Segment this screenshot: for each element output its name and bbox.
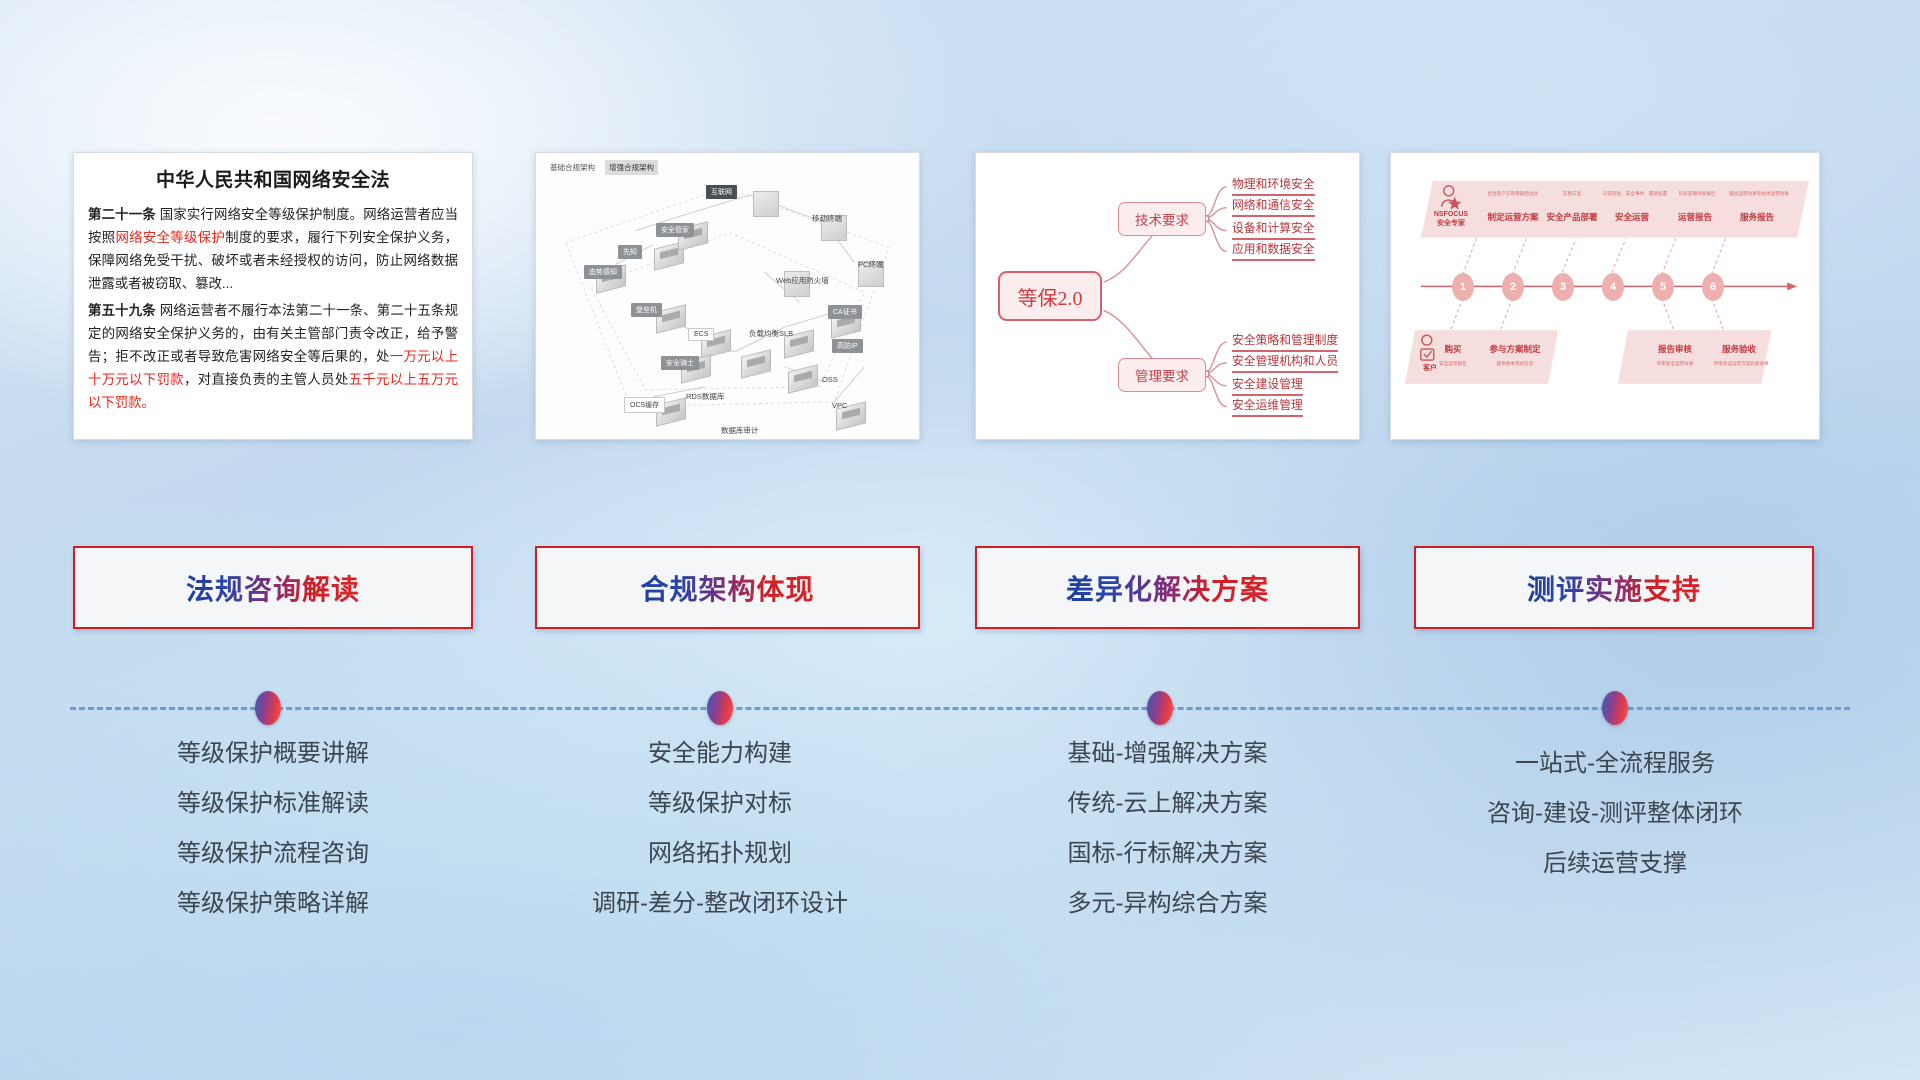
header-label-legal-consulting: 法规咨询解读	[186, 568, 360, 608]
arch-label-xianzhi: 先知	[618, 245, 642, 259]
list-item: 国标-行标解决方案	[960, 842, 1375, 866]
arch-label-situational: 态势感知	[584, 265, 622, 279]
timeline-marker-1[interactable]	[255, 691, 281, 725]
timeline-bottom-sub-4: 评审验证运营方案验收效果	[1701, 361, 1781, 367]
timeline-bottom-head-4: 服务验收	[1709, 343, 1769, 355]
list-item: 传统-云上解决方案	[960, 792, 1375, 816]
mindmap-leaf-policy: 安全策略和管理制度	[1232, 331, 1338, 352]
list-item: 等级保护标准解读	[73, 792, 473, 816]
law-document: 中华人民共和国网络安全法 第二十一条 国家实行网络安全等级保护制度。网络运营者应…	[74, 153, 472, 428]
arch-label-pc: PC终端	[858, 259, 883, 270]
timeline-bottom-head-2: 参与方案制定	[1479, 343, 1551, 355]
card-cybersecurity-law: 中华人民共和国网络安全法 第二十一条 国家实行网络安全等级保护制度。网络运营者应…	[73, 152, 473, 440]
list-item: 等级保护对标	[520, 792, 920, 816]
arch-label-db-audit: 数据库审计	[721, 425, 759, 436]
header-box-differentiated-solution[interactable]: 差异化解决方案	[975, 546, 1360, 629]
list-item: 后续运营支撑	[1400, 852, 1830, 876]
list-item: 等级保护概要讲解	[73, 742, 473, 766]
image-card-row: 中华人民共和国网络安全法 第二十一条 国家实行网络安全等级保护制度。网络运营者应…	[0, 152, 1920, 442]
card-service-timeline: NSFOCUS 安全专家 客户 结合客户实际需期后出具 制定运营方案 实施方案 …	[1390, 152, 1820, 440]
arch-label-rds: RDS数据库	[686, 391, 724, 402]
mindmap-leaf-operation: 安全运维管理	[1232, 396, 1303, 417]
arch-label-bastion: 堡垒机	[631, 303, 662, 317]
arch-label-ca-cert: CA证书	[828, 305, 862, 319]
timeline-node-6: 6	[1702, 273, 1724, 301]
vendor-role: 安全专家	[1437, 220, 1465, 227]
list-item: 基础-增强解决方案	[960, 742, 1375, 766]
timeline-marker-3[interactable]	[1147, 691, 1173, 725]
timeline-node-3: 3	[1552, 273, 1574, 301]
timeline-bottom-head-1: 购买	[1433, 343, 1473, 355]
list-item: 等级保护流程咨询	[73, 842, 473, 866]
timeline-top-head-5: 服务报告	[1719, 211, 1795, 223]
detail-list-differentiated-solution: 基础-增强解决方案 传统-云上解决方案 国标-行标解决方案 多元-异构综合方案	[960, 742, 1375, 942]
arch-label-waf: Web应用防火墙	[776, 275, 829, 286]
timeline-node-1: 1	[1452, 273, 1474, 301]
timeline-node-4: 4	[1602, 273, 1624, 301]
timeline-bottom-sub-1: 安全运营报告	[1429, 361, 1477, 367]
header-label-compliance-architecture: 合规架构体现	[640, 568, 814, 608]
header-box-assessment-support[interactable]: 测评实施支持	[1414, 546, 1814, 629]
timeline-bottom-sub-2: 提供基本现状信息	[1481, 361, 1549, 367]
article-21-label: 第二十一条	[88, 207, 156, 222]
list-item: 一站式-全流程服务	[1400, 752, 1830, 776]
arch-node-server	[753, 191, 779, 217]
law-article-21: 第二十一条 国家实行网络安全等级保护制度。网络运营者应当按照网络安全等级保护制度…	[88, 203, 458, 295]
detail-list-assessment-support: 一站式-全流程服务 咨询-建设-测评整体闭环 后续运营支撑	[1400, 752, 1830, 902]
list-item: 安全能力构建	[520, 742, 920, 766]
list-item: 等级保护策略详解	[73, 892, 473, 916]
arch-label-mobile: 移动终端	[812, 213, 842, 224]
mindmap-leaf-org: 安全管理机构和人员	[1232, 352, 1338, 373]
service-timeline: NSFOCUS 安全专家 客户 结合客户实际需期后出具 制定运营方案 实施方案 …	[1391, 153, 1819, 439]
card-mindmap-dengbao: 等保2.0 技术要求 管理要求 物理和环境安全 网络和通信安全 设备和计算安全 …	[975, 152, 1360, 440]
mindmap-leaf-application: 应用和数据安全	[1232, 240, 1315, 261]
list-item: 调研-差分-整改闭环设计	[520, 892, 920, 916]
card-cloud-architecture: 基础合规架构 增强合规架构	[535, 152, 920, 440]
timeline-marker-4[interactable]	[1602, 691, 1628, 725]
header-label-differentiated-solution: 差异化解决方案	[1066, 568, 1269, 608]
timeline-bottom-head-3: 报告审核	[1645, 343, 1705, 355]
arch-label-slb: 负载均衡SLB	[749, 328, 793, 339]
timeline-top-sub-5: 输出运营效果等总体运营效果	[1709, 191, 1809, 197]
header-box-legal-consulting[interactable]: 法规咨询解读	[73, 546, 473, 629]
detail-list-legal-consulting: 等级保护概要讲解 等级保护标准解读 等级保护流程咨询 等级保护策略详解	[73, 742, 473, 942]
arch-label-ocs-cache: OCS缓存	[624, 397, 665, 413]
mindmap-leaf-device: 设备和计算安全	[1232, 219, 1315, 240]
mindmap-leaf-construction: 安全建设管理	[1232, 375, 1303, 396]
mindmap-leaf-physical: 物理和环境安全	[1232, 175, 1315, 196]
detail-list-compliance-architecture: 安全能力构建 等级保护对标 网络拓扑规划 调研-差分-整改闭环设计	[520, 742, 920, 942]
timeline-marker-2[interactable]	[707, 691, 733, 725]
architecture-diagram: 基础合规架构 增强合规架构	[536, 153, 919, 439]
article-59-text-b: ，对直接负责的主管人员处	[184, 372, 349, 387]
timeline-top-head-3: 安全运营	[1595, 211, 1669, 223]
dashed-line	[70, 707, 1850, 710]
arch-label-security-butler: 安全管家	[656, 223, 694, 237]
timeline-node-5: 5	[1652, 273, 1674, 301]
law-article-59: 第五十九条 网络运营者不履行本法第二十一条、第二十五条规定的网络安全保护义务的，…	[88, 299, 458, 414]
mindmap-branch-technical: 技术要求	[1118, 202, 1206, 236]
law-title: 中华人民共和国网络安全法	[88, 165, 458, 192]
mindmap-branch-management: 管理要求	[1118, 358, 1206, 392]
mindmap: 等保2.0 技术要求 管理要求 物理和环境安全 网络和通信安全 设备和计算安全 …	[976, 153, 1359, 439]
dashed-progress-line	[0, 688, 1920, 728]
mindmap-root-node: 等保2.0	[998, 271, 1102, 321]
arch-label-vpc: VPC	[832, 401, 847, 410]
timeline-node-2: 2	[1502, 273, 1524, 301]
arch-label-anti-ddos: 高防IP	[832, 339, 863, 353]
mindmap-leaf-network: 网络和通信安全	[1232, 196, 1315, 217]
arch-label-security-knight: 安全骑士	[661, 356, 699, 370]
header-label-assessment-support: 测评实施支持	[1527, 568, 1701, 608]
list-item: 多元-异构综合方案	[960, 892, 1375, 916]
list-item: 咨询-建设-测评整体闭环	[1400, 802, 1830, 826]
vendor-name: NSFOCUS	[1434, 211, 1468, 218]
article-59-label: 第五十九条	[88, 303, 156, 318]
article-21-highlight: 网络安全等级保护	[115, 230, 225, 245]
arch-label-ecs: ECS	[688, 328, 714, 341]
arch-label-oss: OSS	[822, 375, 838, 384]
list-item: 网络拓扑规划	[520, 842, 920, 866]
arch-label-internet: 互联网	[706, 185, 737, 199]
header-box-compliance-architecture[interactable]: 合规架构体现	[535, 546, 920, 629]
